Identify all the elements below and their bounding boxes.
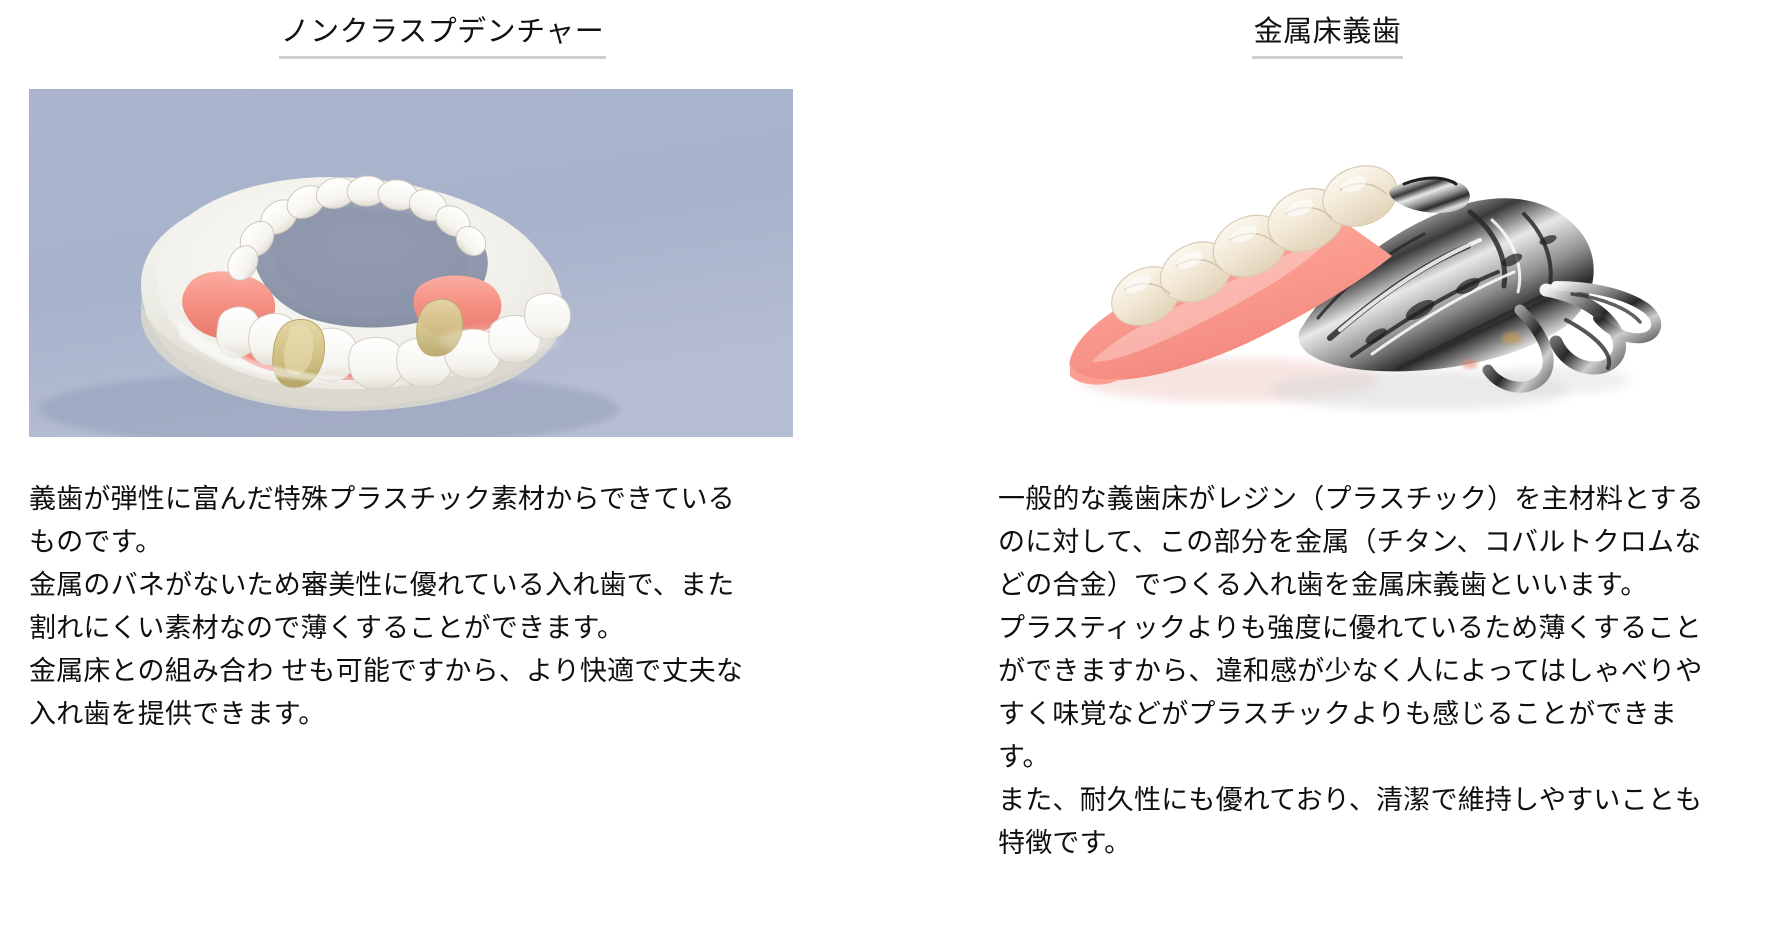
heading-wrap-metalbase: 金属床義歯	[885, 14, 1770, 59]
metal-base-denture-photo	[1000, 80, 1680, 440]
heading-wrap-nonclasp: ノンクラスプデンチャー	[0, 14, 885, 59]
non-clasp-denture-photo	[29, 89, 793, 437]
page-title-metalbase: 金属床義歯	[1252, 14, 1404, 59]
page-title-nonclasp: ノンクラスプデンチャー	[279, 14, 607, 59]
description-nonclasp: 義歯が弾性に富んだ特殊プラスチック素材からできている ものです。 金属のバネがな…	[29, 478, 819, 736]
description-metalbase: 一般的な義歯床がレジン（プラスチック）を主材料とする のに対して、この部分を金属…	[998, 478, 1768, 865]
